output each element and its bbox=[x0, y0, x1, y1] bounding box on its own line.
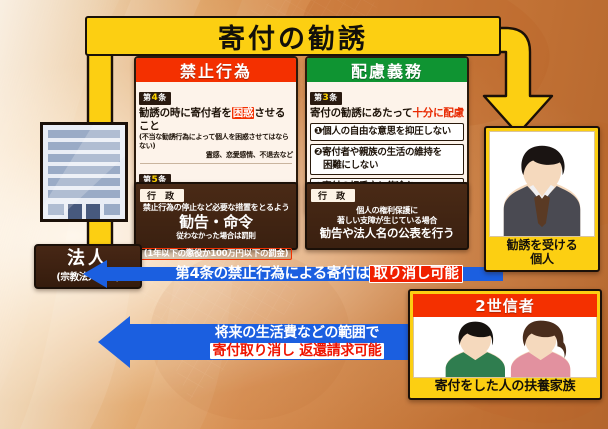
admin-measures-prohibited: 行 政 禁止行為の停止など必要な措置をとるよう 勧告・命令 従わなかった場合は罰… bbox=[134, 182, 298, 250]
admin-line2: 従わなかった場合は罰則 bbox=[136, 231, 296, 240]
prohibited-item: 第4条 勧誘の時に寄付者を困惑させること (不当な勧誘行為によって個人を困惑させ… bbox=[139, 85, 293, 160]
arrow-refund-claim: 将来の生活費などの範囲で 寄付取り消し 返還請求可能 bbox=[98, 314, 428, 370]
arrow-cancellation-text: 第4条の禁止行為による寄付は取り消し可能 bbox=[83, 259, 529, 289]
arrow-cancellation: 第4条の禁止行為による寄付は取り消し可能 bbox=[83, 259, 503, 289]
admin-line2: 著しい支障が生じている場合 bbox=[307, 216, 467, 226]
article-tag: 第4条 bbox=[139, 92, 171, 105]
office-building-icon bbox=[38, 116, 130, 224]
arrow-cancel-before: 第4条の禁止行為による寄付は bbox=[175, 266, 369, 282]
arrow-refund-line1: 将来の生活費などの範囲で bbox=[215, 325, 379, 341]
prohibited-item-main: 勧誘の時に寄付者を困惑させること bbox=[139, 107, 293, 132]
duty-index: ❷ bbox=[314, 147, 322, 158]
admin-measures-consideration: 行 政 個人の権利保護に 著しい支障が生じている場合 勧告や法人名の公表を行う bbox=[305, 182, 469, 250]
article-tag: 第3条 bbox=[310, 92, 342, 105]
page-title-text: 寄付の勧誘 bbox=[218, 17, 368, 56]
family-label: 寄付をした人の扶養家族 bbox=[410, 378, 600, 398]
admin-emphasis: 勧告や法人名の公表を行う bbox=[307, 227, 467, 241]
individual-label-line2: 個人 bbox=[530, 252, 554, 266]
divider bbox=[140, 163, 292, 164]
infographic-canvas: 寄付の勧誘 禁止行為 第4条 勧誘の時に寄付者を困惑させること (不当な勧誘行為… bbox=[0, 0, 608, 429]
admin-emphasis: 勧告・命令 bbox=[136, 213, 296, 231]
consideration-lead: 寄付の勧誘にあたって十分に配慮 bbox=[310, 107, 464, 120]
duty-line1: 個人の自由な意思を抑圧しない bbox=[322, 126, 451, 137]
businessman-avatar-icon bbox=[489, 131, 595, 237]
admin-line1: 禁止行為の停止など必要な措置をとるよう bbox=[136, 203, 296, 213]
admin-tag: 行 政 bbox=[311, 189, 355, 202]
duty-line1: 寄付者や親族の生活の維持を bbox=[322, 147, 442, 158]
actor-family: 2世信者 寄付をした人の扶養家族 bbox=[408, 289, 602, 400]
duty-item: ❶個人の自由な意思を抑圧しない bbox=[310, 123, 464, 142]
panel-prohibited-header: 禁止行為 bbox=[136, 58, 296, 82]
duty-line2: 困難にしない bbox=[314, 160, 460, 172]
duty-item: ❷寄付者や親族の生活の維持を 困難にしない bbox=[310, 144, 464, 174]
prohibited-highlight: 困惑 bbox=[232, 107, 255, 119]
admin-penalty-wrap: (1年以下の懲役か100万円以下の罰金) bbox=[136, 241, 296, 260]
family-header: 2世信者 bbox=[413, 294, 597, 317]
duty-index: ❶ bbox=[314, 126, 322, 137]
panel-consideration-header: 配慮義務 bbox=[307, 58, 467, 82]
individual-label-line1: 勧誘を受ける bbox=[507, 238, 578, 252]
prohibited-item-note2: 霊感、恋愛感情、不退去など bbox=[139, 151, 293, 159]
admin-tag: 行 政 bbox=[140, 189, 184, 202]
arrow-cancel-highlight: 取り消し可能 bbox=[369, 265, 462, 284]
admin-penalty: (1年以下の懲役か100万円以下の罰金) bbox=[140, 248, 292, 260]
two-people-avatar-icon bbox=[413, 317, 597, 378]
prohibited-item-note1: (不当な勧誘行為によって個人を困惑させてはならない) bbox=[139, 133, 293, 150]
actor-individual: 勧誘を受ける 個人 bbox=[484, 126, 600, 272]
individual-label: 勧誘を受ける 個人 bbox=[486, 237, 598, 270]
arrow-refund-line2: 寄付取り消し 返還請求可能 bbox=[210, 343, 385, 359]
consideration-lead-highlight: 十分に配慮 bbox=[412, 107, 464, 119]
page-title: 寄付の勧誘 bbox=[85, 16, 501, 56]
admin-line1: 個人の権利保護に bbox=[307, 206, 467, 216]
